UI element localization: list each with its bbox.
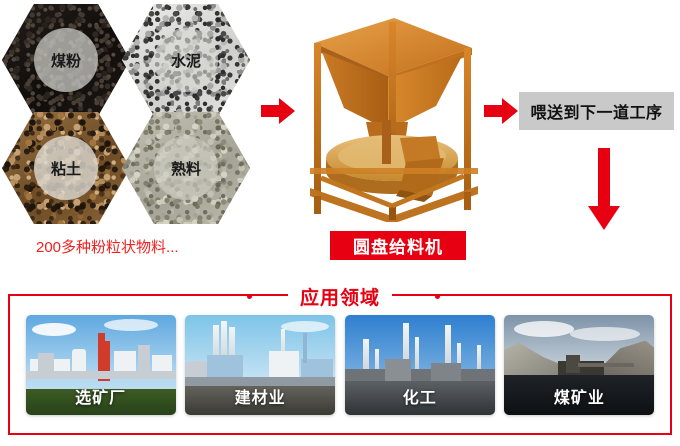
- material-hex-clinker: 熟料: [122, 112, 250, 224]
- arrow-right-icon: [484, 98, 518, 124]
- card-caption: 煤矿业: [504, 384, 654, 408]
- material-label-badge: 粘土: [34, 136, 98, 200]
- arrow-down-icon: [588, 148, 620, 230]
- application-card-coal-mine[interactable]: 煤矿业: [504, 315, 654, 415]
- material-label: 煤粉: [51, 50, 81, 71]
- material-label: 水泥: [171, 50, 201, 71]
- material-label-badge: 煤粉: [34, 28, 98, 92]
- disc-feeder-illustration: [296, 10, 486, 222]
- arrow-head: [279, 98, 295, 124]
- material-label-badge: 水泥: [154, 28, 218, 92]
- material-label: 粘土: [51, 158, 81, 179]
- next-process-text: 喂送到下一道工序: [530, 99, 662, 123]
- arrow-shaft: [598, 148, 610, 210]
- application-card-chemical[interactable]: 化工: [345, 315, 495, 415]
- title-dot-right: [435, 294, 440, 299]
- disc-feeder-svg: [296, 10, 486, 222]
- materials-hex-grid: 煤粉 水泥 粘土 熟料: [2, 4, 250, 226]
- title-dot-left: [247, 294, 252, 299]
- arrow-head: [502, 98, 518, 124]
- application-panel: 选矿厂 建材业: [8, 294, 672, 435]
- application-card-building-materials[interactable]: 建材业: [185, 315, 335, 415]
- arrow-shaft: [261, 105, 281, 117]
- materials-caption: 200多种粉粒状物料...: [36, 236, 179, 257]
- machine-caption-badge: 圆盘给料机: [330, 231, 466, 260]
- material-label-badge: 熟料: [154, 136, 218, 200]
- application-card-list: 选矿厂 建材业: [10, 296, 670, 433]
- arrow-right-icon: [261, 98, 295, 124]
- arrow-head: [588, 206, 620, 230]
- arrow-shaft: [484, 105, 504, 117]
- application-card-ore-dressing[interactable]: 选矿厂: [26, 315, 176, 415]
- material-label: 熟料: [171, 158, 201, 179]
- material-hex-coal: 煤粉: [2, 4, 130, 116]
- card-caption: 化工: [345, 384, 495, 408]
- material-hex-clay: 粘土: [2, 112, 130, 224]
- material-hex-cement: 水泥: [122, 4, 250, 116]
- infographic-root: 煤粉 水泥 粘土 熟料 200多种粉粒状物料...: [0, 0, 680, 446]
- card-caption: 选矿厂: [26, 384, 176, 408]
- next-process-label: 喂送到下一道工序: [519, 92, 674, 130]
- machine-caption-text: 圆盘给料机: [353, 233, 443, 258]
- card-caption: 建材业: [185, 384, 335, 408]
